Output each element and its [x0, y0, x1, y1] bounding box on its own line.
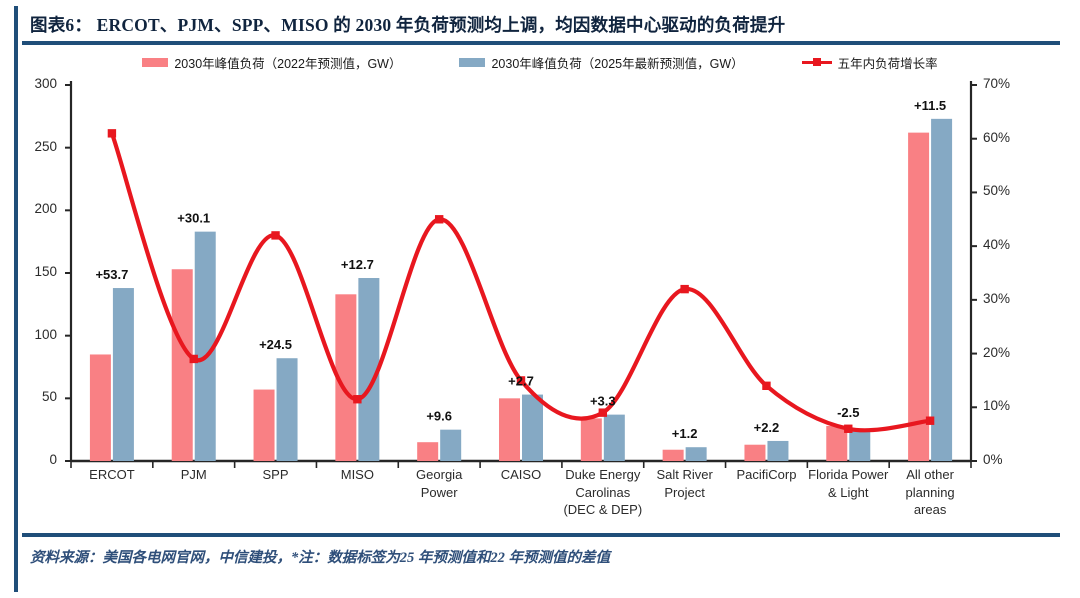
page-title: 图表6： ERCOT、PJM、SPP、MISO 的 2030 年负荷预测均上调，…: [30, 12, 1060, 37]
bar-2025: [277, 358, 298, 461]
y-axis-right-tick-label: 50%: [983, 183, 1033, 198]
source-note: 资料来源：美国各电网官网，中信建投，*注：数据标签为25 年预测值和22 年预测…: [30, 546, 610, 567]
legend-item: 2030年峰值负荷（2025年最新预测值，GW）: [459, 53, 743, 72]
bar-2022: [908, 133, 929, 461]
bar-2022: [499, 398, 520, 461]
x-axis-label-line: Carolinas: [556, 484, 650, 502]
y-axis-right-tick-label: 60%: [983, 130, 1033, 145]
y-axis-left-tick-label: 300: [15, 76, 57, 91]
y-axis-left-tick-label: 200: [15, 201, 57, 216]
chart-svg: +53.7+30.1+24.5+12.7+9.6+2.7+3.3+1.2+2.2…: [0, 74, 1080, 474]
bar-2022: [663, 450, 684, 461]
x-axis-label-line: MISO: [310, 466, 404, 484]
line-marker: [762, 382, 770, 390]
x-axis-label: All otherplanningareas: [883, 466, 977, 519]
x-axis-label-line: Salt River: [638, 466, 732, 484]
y-axis-right-tick-label: 10%: [983, 398, 1033, 413]
legend-item: 2030年峰值负荷（2022年预测值，GW）: [142, 53, 401, 72]
data-label: +12.7: [341, 257, 374, 272]
y-axis-left-tick-label: 100: [15, 327, 57, 342]
legend-line-marker-icon: [802, 57, 832, 67]
x-axis-labels: ERCOTPJMSPPMISOGeorgiaPowerCAISODuke Ene…: [0, 466, 1080, 530]
x-axis-label-line: (DEC & DEP): [556, 501, 650, 519]
x-axis-label: ERCOT: [65, 466, 159, 484]
x-axis-label: PacifiCorp: [720, 466, 814, 484]
bar-2022: [417, 442, 438, 461]
x-axis-label-line: Duke Energy: [556, 466, 650, 484]
bar-2022: [581, 418, 602, 461]
data-label: -2.5: [837, 405, 859, 420]
x-axis-label: Salt RiverProject: [638, 466, 732, 501]
bar-2022: [172, 269, 193, 461]
chart-page: 图表6： ERCOT、PJM、SPP、MISO 的 2030 年负荷预测均上调，…: [0, 0, 1080, 598]
legend-color-swatch: [142, 58, 168, 67]
data-label: +2.7: [508, 374, 534, 389]
bar-2022: [254, 390, 275, 461]
y-axis-right-tick-label: 40%: [983, 237, 1033, 252]
x-axis-label: Duke EnergyCarolinas(DEC & DEP): [556, 466, 650, 519]
line-marker: [844, 425, 852, 433]
legend-item: 五年内负荷增长率: [802, 53, 938, 72]
bar-2025: [113, 288, 134, 461]
x-axis-label: GeorgiaPower: [392, 466, 486, 501]
bar-2025: [931, 119, 952, 461]
line-marker: [599, 408, 607, 416]
data-label: +3.3: [590, 394, 616, 409]
legend-label: 2030年峰值负荷（2025年最新预测值，GW）: [491, 53, 743, 72]
x-axis-label-line: All other: [883, 466, 977, 484]
data-label: +11.5: [914, 98, 946, 113]
line-marker: [190, 355, 198, 363]
y-axis-left-tick-label: 0: [15, 452, 57, 467]
bar-2022: [744, 445, 765, 461]
line-marker: [353, 395, 361, 403]
y-axis-right-tick-label: 0%: [983, 452, 1033, 467]
bar-2025: [767, 441, 788, 461]
line-marker: [926, 417, 934, 425]
chart-plot-area: 0501001502002503000%10%20%30%40%50%60%70…: [0, 74, 1080, 474]
x-axis-label: SPP: [229, 466, 323, 484]
line-marker: [680, 285, 688, 293]
y-axis-left-tick-label: 150: [15, 264, 57, 279]
data-label: +9.6: [426, 409, 452, 424]
data-label: +30.1: [177, 211, 210, 226]
x-axis-label-line: & Light: [801, 484, 895, 502]
legend-label: 五年内负荷增长率: [838, 53, 938, 72]
bar-2025: [849, 430, 870, 461]
x-axis-label: MISO: [310, 466, 404, 484]
bar-2022: [90, 354, 111, 461]
x-axis-label-line: PacifiCorp: [720, 466, 814, 484]
x-axis-label-line: PJM: [147, 466, 241, 484]
data-label: +24.5: [259, 337, 292, 352]
x-axis-label-line: Georgia: [392, 466, 486, 484]
y-axis-right-tick-label: 70%: [983, 76, 1033, 91]
y-axis-right-tick-label: 30%: [983, 291, 1033, 306]
x-axis-label-line: Power: [392, 484, 486, 502]
y-axis-left-tick-label: 250: [15, 139, 57, 154]
line-marker: [108, 129, 116, 137]
title-divider: [22, 41, 1060, 45]
bar-2025: [440, 430, 461, 461]
x-axis-label-line: CAISO: [474, 466, 568, 484]
x-axis-label-line: areas: [883, 501, 977, 519]
x-axis-label-line: planning: [883, 484, 977, 502]
x-axis-label: PJM: [147, 466, 241, 484]
footer-divider: [22, 533, 1060, 537]
y-axis-right-tick-label: 20%: [983, 345, 1033, 360]
bar-2025: [686, 447, 707, 461]
bar-2025: [522, 395, 543, 461]
bar-2025: [604, 415, 625, 461]
data-label: +2.2: [754, 420, 780, 435]
x-axis-label-line: Florida Power: [801, 466, 895, 484]
y-axis-left-tick-label: 50: [15, 389, 57, 404]
legend-color-swatch: [459, 58, 485, 67]
line-marker: [435, 215, 443, 223]
legend-label: 2030年峰值负荷（2022年预测值，GW）: [174, 53, 401, 72]
data-label: +53.7: [95, 267, 128, 282]
data-label: +1.2: [672, 426, 698, 441]
x-axis-label: Florida Power& Light: [801, 466, 895, 501]
x-axis-label-line: ERCOT: [65, 466, 159, 484]
x-axis-label-line: Project: [638, 484, 732, 502]
x-axis-label: CAISO: [474, 466, 568, 484]
chart-legend: 2030年峰值负荷（2022年预测值，GW）2030年峰值负荷（2025年最新预…: [30, 50, 1050, 74]
x-axis-label-line: SPP: [229, 466, 323, 484]
line-marker: [271, 231, 279, 239]
